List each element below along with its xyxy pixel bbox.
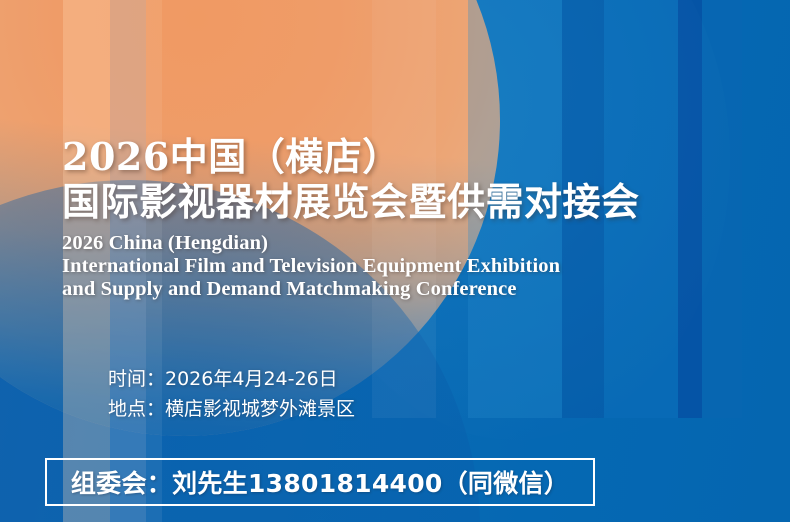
event-info-block: 时间：2026年4月24-26日 地点：横店影视城梦外滩景区 <box>108 364 355 424</box>
poster-title-chinese-line1: 2026中国（横店） <box>62 134 640 179</box>
poster-title-chinese-line2: 国际影视器材展览会暨供需对接会 <box>62 179 640 224</box>
poster-title-english-line1: 2026 China (Hengdian) <box>62 232 640 255</box>
poster-title-english-line3: and Supply and Demand Matchmaking Confer… <box>62 278 640 301</box>
event-venue-line: 地点：横店影视城梦外滩景区 <box>108 394 355 424</box>
poster-content: 2026中国（横店） 国际影视器材展览会暨供需对接会 2026 China (H… <box>0 0 790 522</box>
contact-box: 组委会：刘先生13801814400（同微信） <box>45 458 595 506</box>
organizing-committee-contact: 组委会：刘先生13801814400（同微信） <box>71 464 569 500</box>
event-poster: 2026中国（横店） 国际影视器材展览会暨供需对接会 2026 China (H… <box>0 0 790 522</box>
title-block: 2026中国（横店） 国际影视器材展览会暨供需对接会 2026 China (H… <box>62 134 640 301</box>
event-date-line: 时间：2026年4月24-26日 <box>108 364 355 394</box>
poster-title-english-line2: International Film and Television Equipm… <box>62 255 640 278</box>
